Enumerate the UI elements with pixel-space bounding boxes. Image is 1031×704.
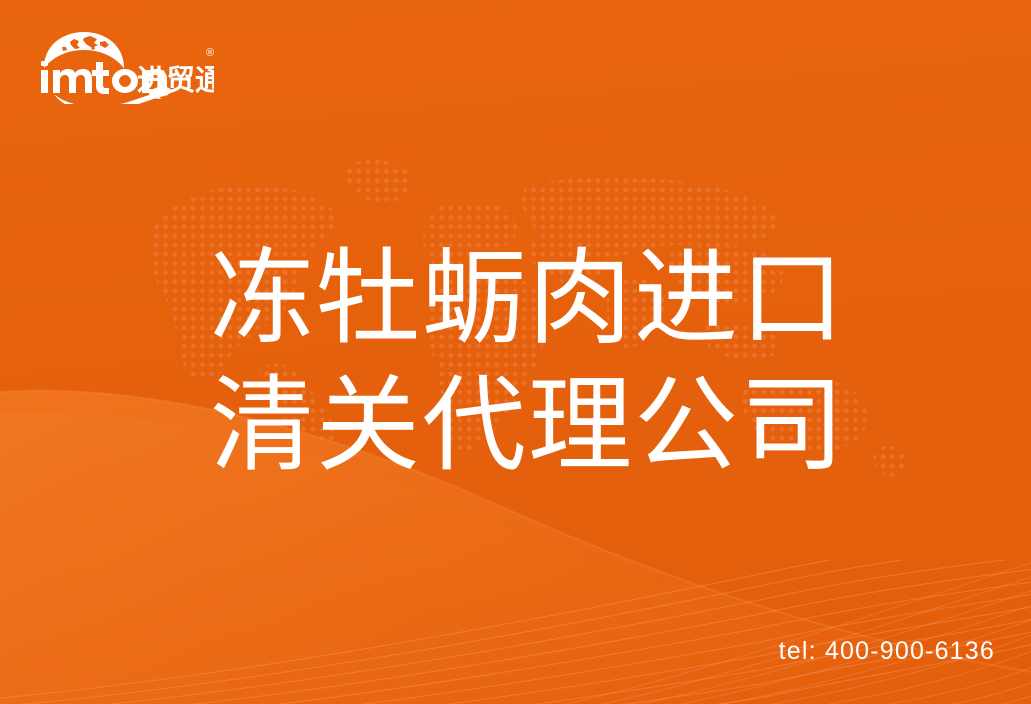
logo-chinese-text: 进贸通 bbox=[137, 64, 214, 97]
headline-line-2: 清关代理公司 bbox=[210, 363, 870, 490]
brand-logo[interactable]: 进贸通 ® bbox=[36, 28, 214, 104]
logo-wordmark-chinese: 进贸通 ® bbox=[137, 47, 214, 97]
page-title: 冻牡蛎肉进口 清关代理公司 bbox=[210, 236, 870, 490]
contact-telephone[interactable]: tel: 400-900-6136 bbox=[779, 637, 995, 666]
promo-banner: 进贸通 ® 冻牡蛎肉进口 清关代理公司 tel: 400-900-6136 bbox=[0, 0, 1031, 704]
trademark-symbol: ® bbox=[206, 47, 214, 59]
headline-line-1: 冻牡蛎肉进口 bbox=[210, 236, 870, 363]
globe-icon bbox=[44, 32, 124, 68]
